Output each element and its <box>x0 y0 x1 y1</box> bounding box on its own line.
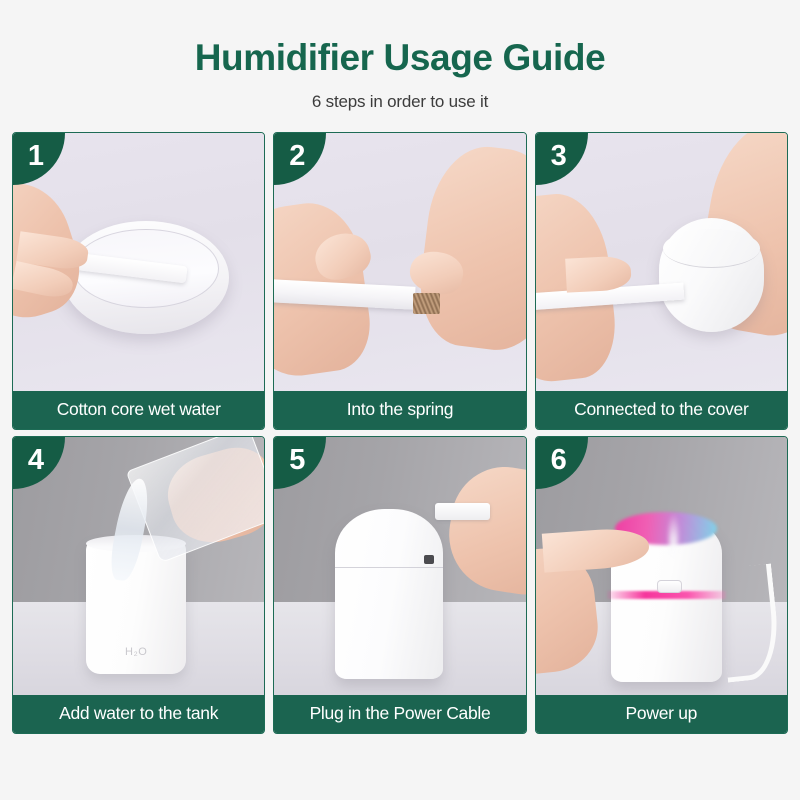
scene-bowl-dip <box>13 133 264 391</box>
steps-grid: 1 Cotton core wet water 2 Into the sprin… <box>8 132 792 734</box>
usb-port <box>424 555 434 564</box>
step-photo-4: H₂O 4 <box>13 437 264 695</box>
cover-lip <box>663 229 760 268</box>
step-caption-1: Cotton core wet water <box>13 391 264 429</box>
page-subtitle: 6 steps in order to use it <box>8 92 792 112</box>
step-caption-6: Power up <box>536 695 787 733</box>
step-photo-3: 3 <box>536 133 787 391</box>
scene-connect-cover <box>536 133 787 391</box>
scene-power-up <box>536 437 787 695</box>
header: Humidifier Usage Guide 6 steps in order … <box>8 0 792 112</box>
step-photo-6: 6 <box>536 437 787 695</box>
tank-label: H₂O <box>86 646 187 658</box>
infographic-page: Humidifier Usage Guide 6 steps in order … <box>0 0 800 800</box>
humidifier-unit <box>335 509 443 679</box>
step-card-6[interactable]: 6 Power up <box>535 436 788 734</box>
scene-plug-cable <box>274 437 525 695</box>
step-caption-4: Add water to the tank <box>13 695 264 733</box>
step-photo-1: 1 <box>13 133 264 391</box>
metal-spring <box>413 293 441 314</box>
scene-wick-spring <box>274 133 525 391</box>
power-button[interactable] <box>657 580 681 593</box>
step-caption-2: Into the spring <box>274 391 525 429</box>
step-caption-3: Connected to the cover <box>536 391 787 429</box>
step-caption-5: Plug in the Power Cable <box>274 695 525 733</box>
page-title: Humidifier Usage Guide <box>8 38 792 78</box>
unit-seam <box>335 567 443 568</box>
step-card-4[interactable]: H₂O 4 Add water to the tank <box>12 436 265 734</box>
step-card-5[interactable]: 5 Plug in the Power Cable <box>273 436 526 734</box>
usb-cable-plug <box>435 503 490 520</box>
step-card-2[interactable]: 2 Into the spring <box>273 132 526 430</box>
step-card-3[interactable]: 3 Connected to the cover <box>535 132 788 430</box>
step-card-1[interactable]: 1 Cotton core wet water <box>12 132 265 430</box>
humidifier-cover <box>659 218 765 332</box>
scene-fill-tank: H₂O <box>13 437 264 695</box>
step-photo-5: 5 <box>274 437 525 695</box>
step-photo-2: 2 <box>274 133 525 391</box>
